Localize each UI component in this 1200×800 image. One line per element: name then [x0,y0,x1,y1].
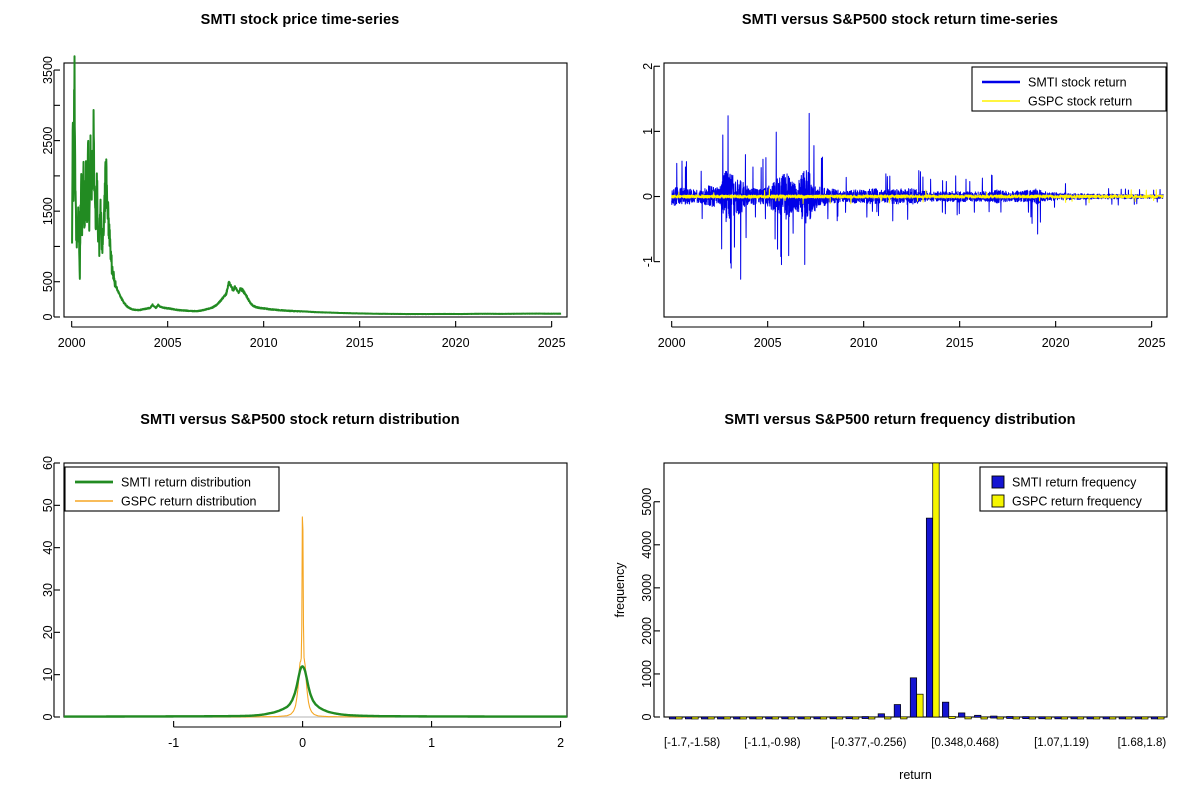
y-tick-label: 0 [41,313,55,320]
y-tick-label: 30 [41,583,55,597]
histogram-bar [814,717,820,719]
histogram-bar [1055,717,1061,719]
histogram-bar [942,702,948,717]
legend-label: SMTI return distribution [121,476,251,490]
histogram-bar [750,717,756,719]
figure-canvas: SMTI stock price time-series 05001500250… [0,0,1200,800]
x-tick-label: -1 [168,736,179,750]
x-tick-label: [1.07,1.19) [1034,737,1089,749]
histogram-bar [1077,717,1083,719]
histogram-bar [830,717,836,719]
histogram-bar [1045,717,1051,719]
y-tick-label: 3500 [41,56,55,84]
histogram-bar [1103,717,1109,719]
x-tick-label: 2020 [1042,336,1070,350]
legend: SMTI return frequencyGSPC return frequen… [980,467,1166,511]
x-axis-title: return [899,768,932,782]
legend-label: SMTI stock return [1028,76,1127,90]
x-tick-label: 2025 [1138,336,1166,350]
histogram-bar [692,717,698,719]
series-gspc-return-distribution [64,517,567,717]
histogram-bar [910,678,916,717]
x-tick-label: 2000 [658,336,686,350]
histogram-bar [1151,717,1157,719]
histogram-bar [1007,716,1013,718]
y-tick-label: 50 [41,498,55,512]
x-tick-label: 2015 [346,336,374,350]
histogram-bar [782,717,788,719]
y-tick-label: 20 [41,625,55,639]
legend: SMTI return distributionGSPC return dist… [65,467,279,511]
x-axis: 200020052010201520202025 [58,321,566,350]
histogram-bar [820,717,826,719]
panel-smti-gspc-return-distribution: SMTI versus S&P500 stock return distribu… [0,400,600,800]
y-tick-label: 40 [41,541,55,555]
y-tick-label: -1 [641,256,655,267]
x-tick-label: 2 [557,736,564,750]
histogram-bar [1158,717,1164,719]
histogram-bar [981,717,987,719]
histogram-bar [862,717,868,719]
x-tick-label: 2020 [442,336,470,350]
legend-label: GSPC return distribution [121,495,257,509]
legend: SMTI stock returnGSPC stock return [972,67,1166,111]
y-tick-label: 500 [41,271,55,292]
x-axis: 200020052010201520202025 [658,321,1166,350]
y-axis: -1012 [641,63,660,267]
y-axis-title: frequency [613,562,627,618]
histogram-bar [701,717,707,719]
histogram-bar [756,717,762,719]
histogram-bar [717,717,723,719]
y-tick-label: 5000 [640,488,654,516]
legend-label: GSPC return frequency [1012,495,1143,509]
histogram-bar [1039,717,1045,719]
x-tick-label: 2010 [850,336,878,350]
x-tick-label: [-1.7,-1.58) [664,737,720,749]
histogram-bar [885,717,891,719]
plot-area-return-histogram: 010002000300040005000frequency[-1.7,-1.5… [600,400,1200,800]
histogram-bar [1135,717,1141,719]
y-tick-label: 10 [41,668,55,682]
legend-label: GSPC stock return [1028,95,1132,109]
y-tick-label: 1 [641,128,655,135]
x-tick-label: 2015 [946,336,974,350]
histogram-bar [798,717,804,719]
legend-label: SMTI return frequency [1012,476,1137,490]
legend-swatch-smti [992,476,1004,488]
histogram-bar [1071,717,1077,719]
histogram-bar [991,716,997,718]
x-tick-label: [-1.1,-0.98) [744,737,800,749]
x-axis: -1012 [168,721,564,750]
histogram-bar [1023,717,1029,719]
y-tick-label: 0 [641,193,655,200]
series-smti-return-distribution [64,666,567,716]
series-smti-stock-price [72,56,561,314]
y-axis: 0102030405060 [41,456,60,720]
y-tick-label: 3000 [640,574,654,602]
histogram-bar [997,717,1003,719]
y-tick-label: 2 [641,63,655,70]
histogram-bar [1013,717,1019,719]
plot-frame [64,63,567,317]
histogram-bar [901,717,907,719]
histogram-bar [1119,717,1125,719]
histogram-bar [933,463,939,717]
y-tick-label: 0 [41,713,55,720]
x-tick-label: 2025 [538,336,566,350]
histogram-bar [804,717,810,719]
histogram-bar [894,705,900,717]
histogram-bar [766,717,772,719]
histogram-bar [958,713,964,717]
histogram-bar [1126,717,1132,719]
y-axis: 010002000300040005000 [640,488,660,721]
histogram-bar [788,717,794,719]
y-tick-label: 1000 [640,660,654,688]
x-tick-label: 2005 [754,336,782,350]
y-tick-label: 1500 [41,197,55,225]
histogram-bar [772,717,778,719]
x-tick-label: [1.68,1.8) [1118,737,1167,749]
histogram-bar [878,714,884,717]
histogram-bar [836,717,842,719]
histogram-bar [949,716,955,718]
legend-swatch-gspc [992,495,1004,507]
x-tick-label: [0.348,0.468) [931,737,999,749]
histogram-bar [676,717,682,719]
y-tick-label: 60 [41,456,55,470]
histogram-bar [1061,717,1067,719]
y-tick-label: 2500 [41,127,55,155]
y-axis: 0500150025003500 [41,56,60,320]
histogram-bar [685,717,691,719]
y-tick-label: 2000 [640,617,654,645]
histogram-bar [868,717,874,719]
histogram-bar [734,717,740,719]
histogram-bar [1109,717,1115,719]
plot-area-return-density: 0102030405060-1012SMTI return distributi… [0,400,600,800]
histogram-bar [846,717,852,719]
y-tick-label: 4000 [640,531,654,559]
panel-smti-price-timeseries: SMTI stock price time-series 05001500250… [0,0,600,400]
x-axis: [-1.7,-1.58)[-1.1,-0.98)[-0.377,-0.256)[… [664,737,1166,749]
histogram-bar [965,717,971,719]
histogram-bar [1087,717,1093,719]
panel-smti-gspc-return-timeseries: SMTI versus S&P500 stock return time-ser… [600,0,1200,400]
x-tick-label: 0 [299,736,306,750]
histogram-bar [708,717,714,719]
histogram-bar [724,717,730,719]
x-tick-label: 1 [428,736,435,750]
y-tick-label: 0 [640,713,654,720]
histogram-bar [852,717,858,719]
histogram-bar [1093,717,1099,719]
x-tick-label: 2010 [250,336,278,350]
histogram-bar [926,518,932,717]
histogram-bar [1142,717,1148,719]
x-tick-label: 2005 [154,336,182,350]
plot-area-smti-price: 0500150025003500200020052010201520202025 [0,0,600,400]
x-tick-label: [-0.377,-0.256) [831,737,907,749]
histogram-bar [740,717,746,719]
histogram-bar [1029,717,1035,719]
histogram-bar [917,694,923,717]
plot-area-return-timeseries: -1012200020052010201520202025SMTI stock … [600,0,1200,400]
histogram-bar [975,715,981,717]
panel-smti-gspc-return-frequency: SMTI versus S&P500 return frequency dist… [600,400,1200,800]
x-tick-label: 2000 [58,336,86,350]
histogram-bar [669,717,675,719]
